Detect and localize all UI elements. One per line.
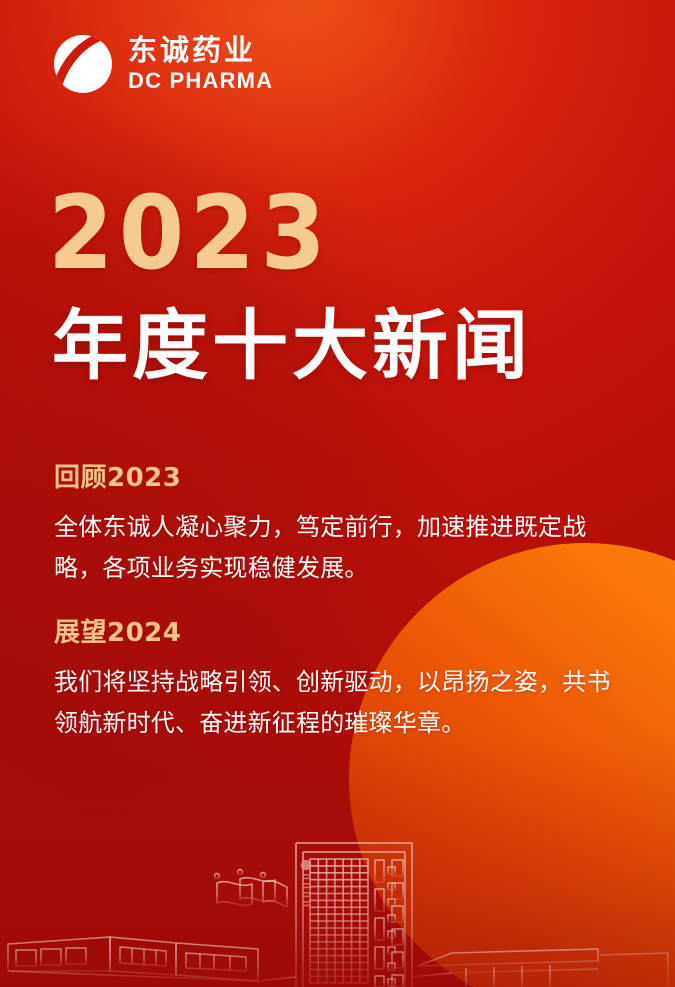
section-body: 我们将坚持战略引领、创新驱动，以昂扬之姿，共书领航新时代、奋进新征程的璀璨华章。 [54,662,620,745]
year-title: 2023 [48,183,331,285]
page-title: 年度十大新闻 [52,305,532,387]
section-outlook-2024: 展望2024 我们将坚持战略引领、创新驱动，以昂扬之姿，共书领航新时代、奋进新征… [54,618,620,745]
section-review-2023: 回顾2023 全体东诚人凝心聚力，笃定前行，加速推进既定战略，各项业务实现稳健发… [54,463,620,590]
section-heading: 展望2024 [54,618,620,649]
city-skyline-illustration [0,747,675,987]
annual-news-poster: 东诚药业 DC PHARMA 2023 年度十大新闻 回顾2023 全体东诚人凝… [0,0,675,987]
brand-lockup: 东诚药业 DC PHARMA [52,33,273,95]
section-body: 全体东诚人凝心聚力，笃定前行，加速推进既定战略，各项业务实现稳健发展。 [54,507,620,590]
brand-name-en: DC PHARMA [128,68,273,93]
brand-text: 东诚药业 DC PHARMA [128,35,273,94]
brand-name-cn: 东诚药业 [128,35,273,65]
section-heading: 回顾2023 [54,463,620,494]
dc-pharma-seed-logo-icon [52,33,114,95]
